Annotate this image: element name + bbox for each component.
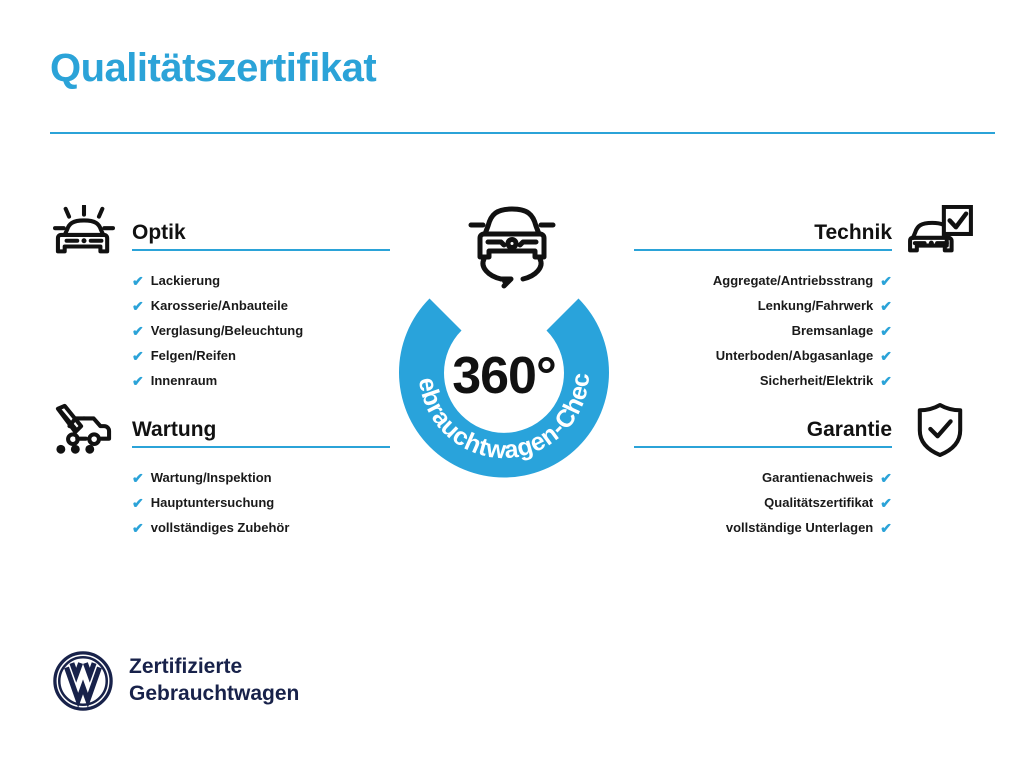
list-item-label: Verglasung/Beleuchtung [151, 318, 303, 343]
shield-check-icon [901, 402, 979, 458]
section-title: Garantie [634, 419, 892, 446]
checklist: Aggregate/Antriebsstrang✔ Lenkung/Fahrwe… [634, 268, 892, 393]
checklist: ✔Wartung/Inspektion ✔Hauptuntersuchung ✔… [132, 465, 390, 540]
list-item: Qualitätszertifikat✔ [634, 490, 892, 515]
list-item-label: Lackierung [151, 268, 220, 293]
check-icon: ✔ [880, 521, 892, 535]
list-item: Garantienachweis✔ [634, 465, 892, 490]
footer-logo-line1: Zertifizierte [129, 654, 299, 681]
list-item-label: vollständiges Zubehör [151, 515, 290, 540]
wrench-car-icon [45, 402, 123, 458]
section-wartung: Wartung ✔Wartung/Inspektion ✔Hauptunters… [45, 402, 390, 540]
car-shine-icon [45, 205, 123, 261]
section-garantie: Garantie Garantienachweis✔ Qualitätszert… [634, 402, 979, 540]
check-icon: ✔ [132, 274, 144, 288]
check-icon: ✔ [132, 496, 144, 510]
section-header: Garantie [634, 402, 979, 448]
list-item: ✔Hauptuntersuchung [132, 490, 390, 515]
list-item-label: Lenkung/Fahrwerk [758, 293, 874, 318]
list-item-label: Garantienachweis [762, 465, 873, 490]
list-item-label: Unterboden/Abgasanlage [716, 343, 873, 368]
check-icon: ✔ [132, 521, 144, 535]
section-title: Wartung [132, 419, 390, 446]
section-technik: Technik Aggregate/Antriebsstrang✔ Lenkun… [634, 205, 979, 393]
section-underline [634, 249, 892, 251]
list-item: Bremsanlage✔ [634, 318, 892, 343]
checklist: ✔Lackierung ✔Karosserie/Anbauteile ✔Verg… [132, 268, 390, 393]
list-item-label: Wartung/Inspektion [151, 465, 272, 490]
list-item: Sicherheit/Elektrik✔ [634, 368, 892, 393]
list-item: ✔Innenraum [132, 368, 390, 393]
list-item-label: Innenraum [151, 368, 217, 393]
list-item: ✔Wartung/Inspektion [132, 465, 390, 490]
check-icon: ✔ [880, 471, 892, 485]
checklist: Garantienachweis✔ Qualitätszertifikat✔ v… [634, 465, 892, 540]
badge-center-label: 360° [381, 350, 627, 402]
list-item: vollständige Unterlagen✔ [634, 515, 892, 540]
section-header: Technik [634, 205, 979, 251]
footer-logo-text: Zertifizierte Gebrauchtwagen [129, 654, 299, 708]
list-item: ✔vollständiges Zubehör [132, 515, 390, 540]
list-item-label: Sicherheit/Elektrik [760, 368, 873, 393]
section-underline [634, 446, 892, 448]
list-item-label: Qualitätszertifikat [764, 490, 873, 515]
list-item: ✔Karosserie/Anbauteile [132, 293, 390, 318]
check-icon: ✔ [132, 471, 144, 485]
list-item: Unterboden/Abgasanlage✔ [634, 343, 892, 368]
section-header: Optik [45, 205, 390, 251]
section-title: Technik [634, 222, 892, 249]
section-header: Wartung [45, 402, 390, 448]
check-icon: ✔ [880, 374, 892, 388]
list-item-label: Aggregate/Antriebsstrang [713, 268, 873, 293]
footer-logo-line2: Gebrauchtwagen [129, 681, 299, 708]
check-icon: ✔ [880, 496, 892, 510]
page-title: Qualitätszertifikat [50, 48, 376, 88]
section-underline [132, 446, 390, 448]
list-item-label: Karosserie/Anbauteile [151, 293, 288, 318]
list-item-label: Felgen/Reifen [151, 343, 236, 368]
list-item-label: Bremsanlage [792, 318, 874, 343]
check-icon: ✔ [880, 349, 892, 363]
section-underline [132, 249, 390, 251]
check-icon: ✔ [880, 324, 892, 338]
check-icon: ✔ [132, 324, 144, 338]
car-checkbox-icon [901, 205, 979, 261]
list-item: Lenkung/Fahrwerk✔ [634, 293, 892, 318]
list-item: ✔Lackierung [132, 268, 390, 293]
list-item: ✔Felgen/Reifen [132, 343, 390, 368]
header-divider [50, 132, 995, 134]
section-title: Optik [132, 222, 390, 249]
vw-certified-logo: Zertifizierte Gebrauchtwagen [52, 650, 299, 712]
check-icon: ✔ [132, 374, 144, 388]
vw-logo-icon [52, 650, 114, 712]
check-icon: ✔ [880, 299, 892, 313]
badge-360-gebrauchtwagen-check: Gebrauchtwagen-Check 360° [381, 196, 643, 496]
check-icon: ✔ [132, 299, 144, 313]
list-item-label: vollständige Unterlagen [726, 515, 873, 540]
list-item: ✔Verglasung/Beleuchtung [132, 318, 390, 343]
list-item-label: Hauptuntersuchung [151, 490, 275, 515]
section-optik: Optik ✔Lackierung ✔Karosserie/Anbauteile… [45, 205, 390, 393]
check-icon: ✔ [880, 274, 892, 288]
list-item: Aggregate/Antriebsstrang✔ [634, 268, 892, 293]
check-icon: ✔ [132, 349, 144, 363]
